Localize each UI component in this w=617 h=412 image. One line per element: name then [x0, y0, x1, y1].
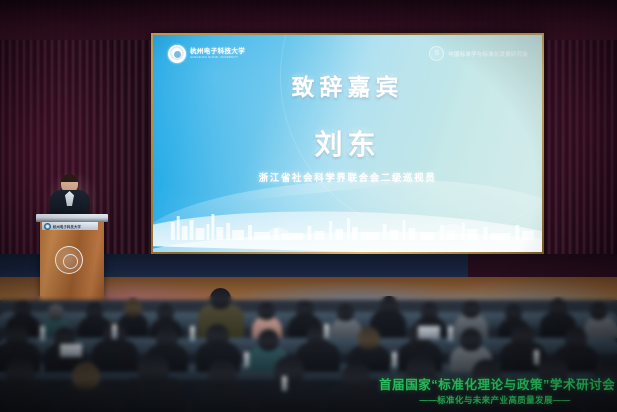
university-seal-icon: [168, 45, 186, 63]
audience-member-head: [124, 298, 142, 317]
audience-member-head: [421, 302, 438, 320]
projection-screen-frame: 杭州电子科技大学 HANGZHOU DIANZI UNIVERSITY S 中国…: [151, 33, 544, 254]
audience-member-head: [258, 329, 279, 351]
audience-member-head: [511, 324, 534, 347]
audience-member-head: [274, 356, 304, 386]
audience-member-head: [86, 302, 103, 320]
audience-member-head: [6, 324, 28, 347]
audience-member-head: [296, 300, 314, 318]
event-banner: 首届国家“标准化理论与政策”学术研讨会 ——标准化与未来产业高质量发展——: [379, 378, 611, 406]
event-banner-subtitle: ——标准化与未来产业高质量发展——: [379, 395, 611, 406]
podium-nameplate-text: 杭州电子科技大学: [53, 224, 81, 229]
audience-member-head: [258, 302, 275, 320]
audience-member-head: [380, 296, 398, 315]
audience-member-head: [565, 327, 587, 350]
university-name-cn: 杭州电子科技大学: [190, 49, 245, 56]
audience-member: [330, 318, 362, 338]
audience-member-head: [6, 358, 35, 387]
water-bottle: [534, 350, 539, 365]
water-bottle: [40, 326, 45, 341]
audience-member-head: [342, 362, 370, 390]
audience-member-head: [14, 300, 31, 318]
water-bottle: [190, 326, 195, 341]
university-name-en: HANGZHOU DIANZI UNIVERSITY: [190, 57, 245, 60]
slide-speaker-name: 刘东: [153, 123, 542, 163]
water-bottle: [282, 376, 287, 391]
audience-member-head: [337, 304, 354, 321]
audience-member-head: [72, 362, 100, 390]
water-bottle: [244, 352, 249, 367]
audience-member-head: [590, 302, 607, 320]
slide-university-logo-text: 杭州电子科技大学 HANGZHOU DIANZI UNIVERSITY: [190, 49, 245, 60]
podium-nameplate: 杭州电子科技大学: [42, 222, 98, 230]
audience-member-head: [460, 328, 482, 351]
slide-university-logo: 杭州电子科技大学 HANGZHOU DIANZI UNIVERSITY: [168, 45, 245, 63]
water-bottle: [448, 326, 453, 341]
water-bottle: [112, 324, 117, 339]
slide-kicker-title: 致辞嘉宾: [153, 68, 542, 102]
audience-member-head: [157, 304, 174, 321]
audience-member-head: [549, 298, 567, 317]
slide-skyline-graphic: [153, 180, 542, 252]
event-banner-title: 首届国家“标准化理论与政策”学术研讨会: [379, 378, 611, 394]
audience-member-head: [206, 324, 229, 347]
audience-member-head: [208, 359, 237, 388]
audience-member-head: [210, 288, 231, 309]
water-bottle: [324, 324, 329, 339]
audience-member-head: [358, 327, 380, 350]
audience-member-head: [138, 354, 169, 385]
university-crest-icon: [55, 246, 83, 274]
audience-member-head: [48, 304, 64, 321]
auditorium-scene: 杭州电子科技大学 HANGZHOU DIANZI UNIVERSITY S 中国…: [0, 0, 617, 412]
audience-member-head: [156, 326, 178, 349]
association-seal-icon: S: [429, 46, 444, 61]
audience-member-head: [462, 300, 480, 318]
water-bottle: [392, 352, 397, 367]
university-seal-icon: [44, 223, 51, 230]
laptop: [60, 344, 82, 357]
projection-screen: 杭州电子科技大学 HANGZHOU DIANZI UNIVERSITY S 中国…: [153, 35, 542, 252]
association-name-cn: 中国标准学与标准化发展研究会: [448, 50, 528, 58]
audience-member-head: [505, 304, 522, 321]
laptop: [418, 326, 440, 339]
podium-top-surface: [36, 214, 108, 222]
slide-association-logo: S 中国标准学与标准化发展研究会: [429, 46, 528, 61]
